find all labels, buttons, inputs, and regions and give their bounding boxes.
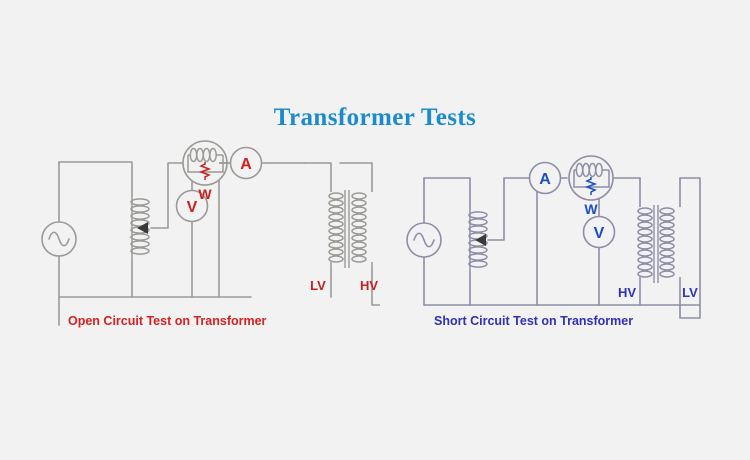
ac-source-icon <box>407 223 441 257</box>
short-circuit-diagram: A W V <box>400 140 730 460</box>
wattmeter-label: W <box>198 186 212 202</box>
wattmeter-label: W <box>584 201 598 217</box>
wire-source-top-r <box>424 178 470 208</box>
wattmeter-icon: W <box>569 156 613 217</box>
page-title: Transformer Tests <box>0 104 750 132</box>
ammeter-label: A <box>240 156 252 173</box>
transformer-icon: LV HV <box>310 190 378 293</box>
ammeter-icon: A <box>530 163 561 194</box>
ammeter-icon: A <box>219 148 305 179</box>
voltmeter-icon: V <box>584 217 615 248</box>
wire-source-top <box>59 162 132 195</box>
open-circuit-caption: Open Circuit Test on Transformer <box>68 314 266 328</box>
transformer-lv-label: LV <box>682 285 698 300</box>
variac-wiper-arrow-icon <box>475 234 486 246</box>
ac-source-icon <box>42 222 76 256</box>
transformer-hv-label: HV <box>618 285 636 300</box>
variac-wiper-arrow-icon <box>137 222 148 234</box>
wire-amm-to-primary <box>305 163 331 190</box>
transformer-lv-label: LV <box>310 278 326 293</box>
transformer-icon: HV LV <box>618 205 698 300</box>
ammeter-label: A <box>539 171 551 188</box>
open-circuit-diagram: V W A <box>0 140 380 460</box>
wire-wiper-to-amm-r <box>488 178 530 240</box>
diagram-canvas: Transformer Tests <box>0 0 750 450</box>
voltmeter-label: V <box>187 199 198 216</box>
short-circuit-caption: Short Circuit Test on Transformer <box>434 314 633 328</box>
transformer-hv-label: HV <box>360 278 378 293</box>
voltmeter-label: V <box>594 225 605 242</box>
